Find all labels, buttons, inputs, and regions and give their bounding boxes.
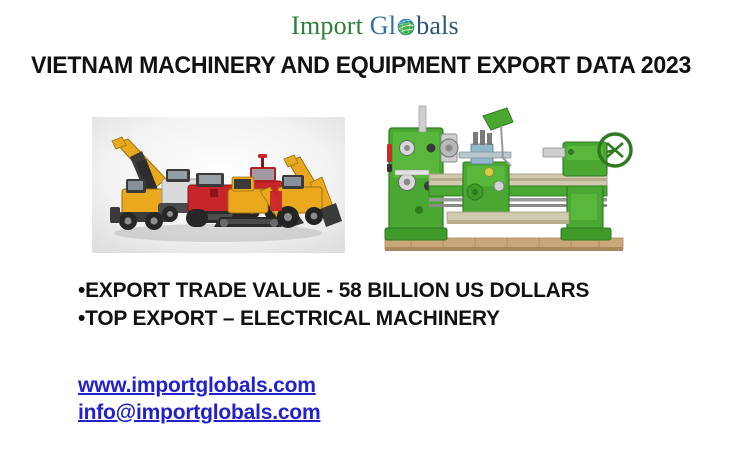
logo-text-import: Import	[291, 11, 363, 40]
key-facts-list: •EXPORT TRADE VALUE - 58 BILLION US DOLL…	[78, 276, 698, 332]
lathe-machine-image	[371, 86, 639, 255]
list-item: •EXPORT TRADE VALUE - 58 BILLION US DOLL…	[78, 276, 676, 304]
contact-links: www.importglobals.com info@importglobals…	[78, 372, 320, 426]
email-link[interactable]: info@importglobals.com	[78, 399, 320, 426]
website-link[interactable]: www.importglobals.com	[78, 372, 320, 399]
list-item: •TOP EXPORT – ELECTRICAL MACHINERY	[78, 304, 676, 332]
construction-machinery-image	[92, 117, 345, 253]
page-title: VIETNAM MACHINERY AND EQUIPMENT EXPORT D…	[31, 52, 690, 80]
globe-icon	[396, 14, 416, 34]
logo-text-gl: Gl	[370, 11, 396, 40]
logo-text-bals: bals	[416, 11, 459, 40]
chip-tray	[447, 212, 569, 224]
brand-logo: Import Gl bals	[0, 11, 750, 41]
